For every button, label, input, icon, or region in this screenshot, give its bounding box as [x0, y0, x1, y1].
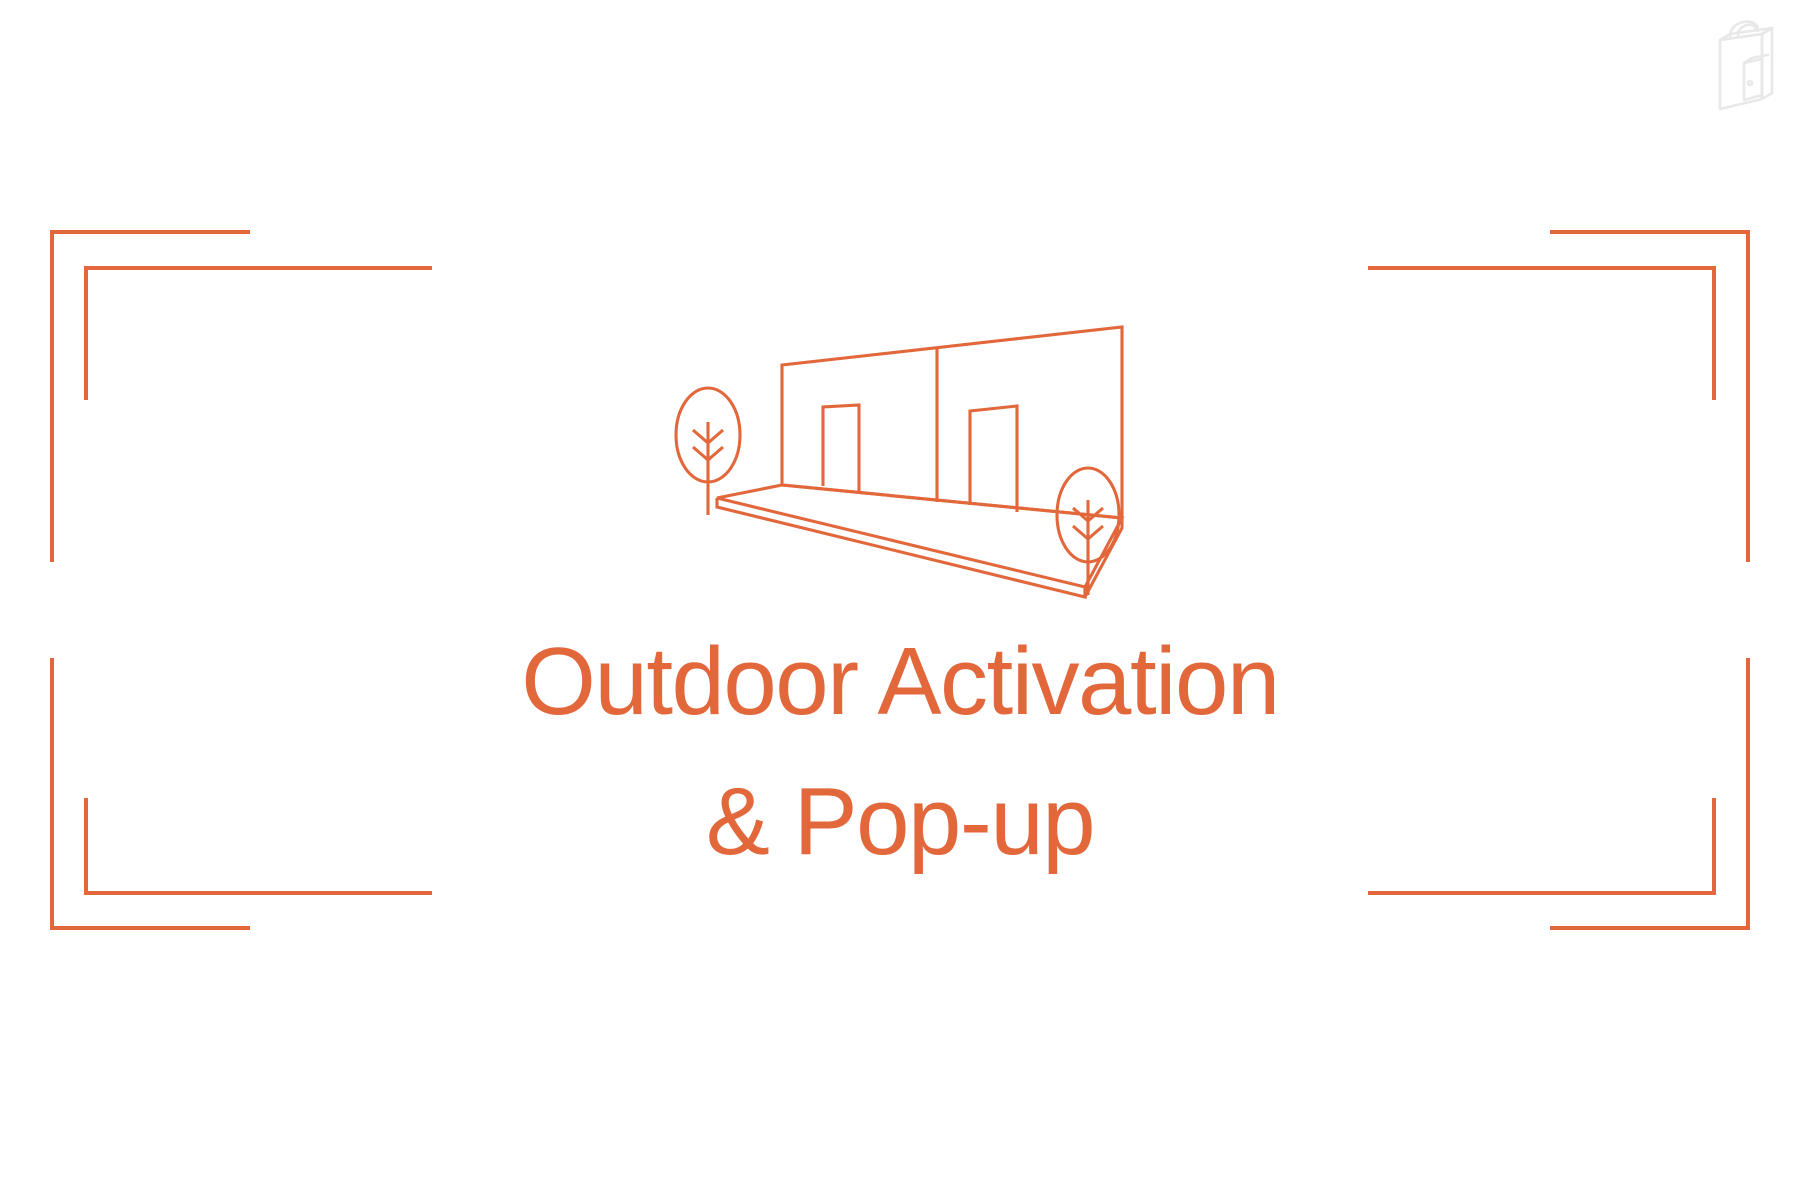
bracket-top-right-outer [1552, 232, 1748, 560]
title-line-1: Outdoor Activation [0, 612, 1800, 752]
bag-door [1744, 59, 1762, 100]
bag-right-face [1762, 28, 1772, 99]
tree-right-icon [1057, 468, 1119, 595]
bag-door-knob [1748, 81, 1752, 85]
door-opening-left [823, 405, 859, 492]
bracket-top-left-inner [86, 268, 430, 398]
bag-door-lintel [1744, 55, 1768, 63]
slide-canvas: Outdoor Activation & Pop-up [0, 0, 1800, 1200]
bracket-top-right-inner [1370, 268, 1714, 398]
door-opening-right [970, 406, 1017, 512]
bracket-top-left-outer [52, 232, 248, 560]
outdoor-storefront-illustration [660, 300, 1160, 620]
title-line-2: & Pop-up [0, 752, 1800, 892]
page-title: Outdoor Activation & Pop-up [0, 612, 1800, 892]
shopping-bag-storefront-icon [1700, 10, 1786, 114]
